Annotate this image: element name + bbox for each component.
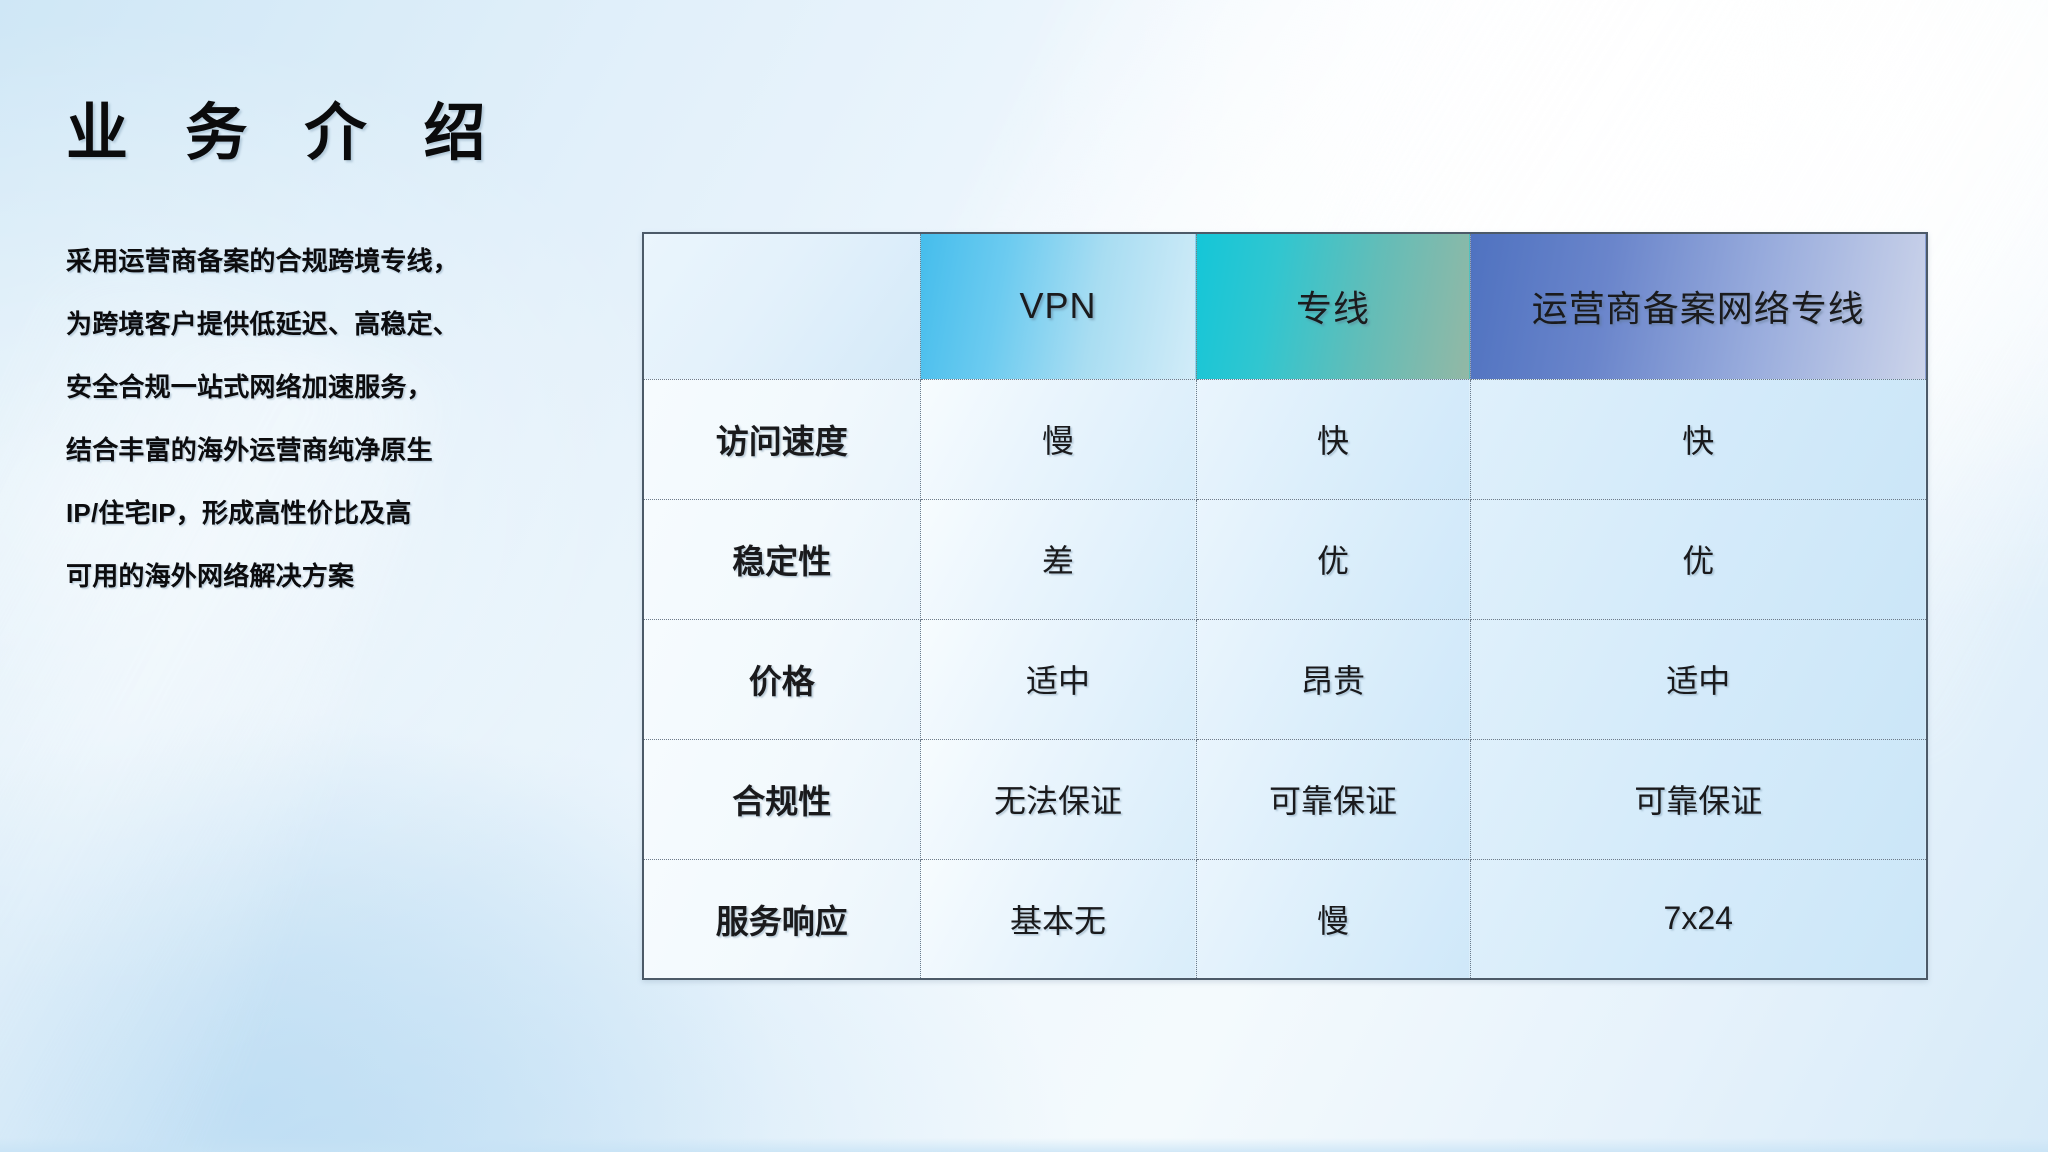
slide-canvas: 业 务 介 绍 采用运营商备案的合规跨境专线， 为跨境客户提供低延迟、高稳定、 … <box>0 0 2048 1152</box>
table-header-carrier-line: 运营商备案网络专线 <box>1470 233 1927 379</box>
comparison-table: VPN 专线 运营商备案网络专线 访问速度 慢 快 快 稳定性 差 优 优 价格… <box>642 232 1928 980</box>
row-label: 合规性 <box>643 739 920 859</box>
cell-dedicated: 可靠保证 <box>1196 739 1470 859</box>
row-label: 服务响应 <box>643 859 920 979</box>
cell-vpn: 差 <box>920 499 1196 619</box>
row-label: 价格 <box>643 619 920 739</box>
cell-vpn: 慢 <box>920 379 1196 499</box>
background-bottom-band <box>0 1138 2048 1152</box>
table-header-vpn: VPN <box>920 233 1196 379</box>
table-row: 稳定性 差 优 优 <box>643 499 1927 619</box>
row-label: 稳定性 <box>643 499 920 619</box>
cell-carrier: 7x24 <box>1470 859 1927 979</box>
cell-carrier: 快 <box>1470 379 1927 499</box>
cell-carrier: 可靠保证 <box>1470 739 1927 859</box>
table-header-blank <box>643 233 920 379</box>
intro-line: IP/住宅IP，形成高性价比及高 <box>66 482 626 545</box>
table-row: 合规性 无法保证 可靠保证 可靠保证 <box>643 739 1927 859</box>
table-body: 访问速度 慢 快 快 稳定性 差 优 优 价格 适中 昂贵 适中 合规性 无法保… <box>643 379 1927 979</box>
intro-line: 可用的海外网络解决方案 <box>66 545 626 608</box>
intro-paragraph: 采用运营商备案的合规跨境专线， 为跨境客户提供低延迟、高稳定、 安全合规一站式网… <box>66 230 626 608</box>
row-label: 访问速度 <box>643 379 920 499</box>
cell-vpn: 无法保证 <box>920 739 1196 859</box>
cell-carrier: 适中 <box>1470 619 1927 739</box>
cell-carrier: 优 <box>1470 499 1927 619</box>
intro-line: 结合丰富的海外运营商纯净原生 <box>66 419 626 482</box>
cell-dedicated: 快 <box>1196 379 1470 499</box>
cell-dedicated: 慢 <box>1196 859 1470 979</box>
cell-dedicated: 昂贵 <box>1196 619 1470 739</box>
intro-line: 采用运营商备案的合规跨境专线， <box>66 230 626 293</box>
cell-vpn: 适中 <box>920 619 1196 739</box>
cell-dedicated: 优 <box>1196 499 1470 619</box>
cell-vpn: 基本无 <box>920 859 1196 979</box>
table-header-dedicated-line: 专线 <box>1196 233 1470 379</box>
intro-line: 安全合规一站式网络加速服务， <box>66 356 626 419</box>
table-row: 价格 适中 昂贵 适中 <box>643 619 1927 739</box>
table-header-row: VPN 专线 运营商备案网络专线 <box>643 233 1927 379</box>
table-row: 服务响应 基本无 慢 7x24 <box>643 859 1927 979</box>
table-row: 访问速度 慢 快 快 <box>643 379 1927 499</box>
page-title: 业 务 介 绍 <box>66 100 506 168</box>
table-header: VPN 专线 运营商备案网络专线 <box>643 233 1927 379</box>
intro-line: 为跨境客户提供低延迟、高稳定、 <box>66 293 626 356</box>
